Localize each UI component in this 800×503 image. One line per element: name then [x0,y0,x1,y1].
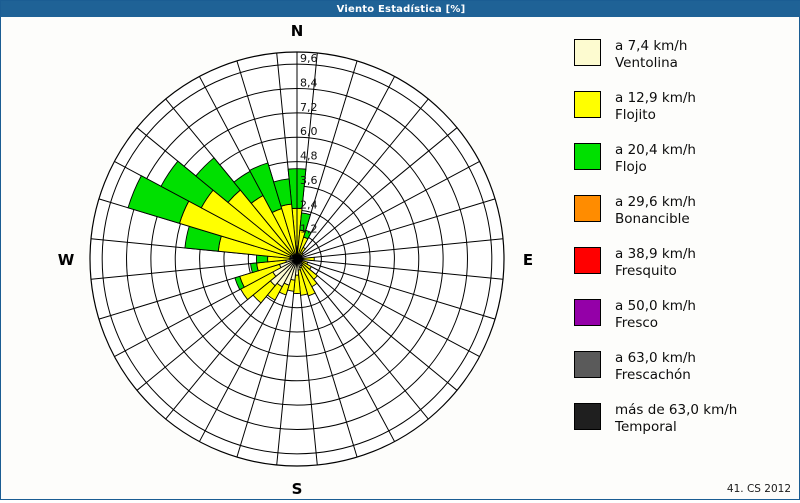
legend: a 7,4 km/hVentolinaa 12,9 km/hFlojitoa 2… [574,38,796,454]
legend-speed: más de 63,0 km/h [615,402,737,419]
legend-speed: a 63,0 km/h [615,350,696,367]
petal-segment [251,263,259,273]
radial-tick-label: 6,0 [300,125,318,138]
legend-swatch-flojo [574,143,601,170]
legend-item[interactable]: a 38,9 km/hFresquito [574,246,796,290]
legend-swatch-fresquito [574,247,601,274]
legend-label: a 12,9 km/hFlojito [615,90,696,124]
compass-label-north: N [291,22,304,40]
legend-label: a 38,9 km/hFresquito [615,246,696,280]
radial-tick-label: 9,6 [300,52,318,65]
wind-rose-plot: 1,22,43,64,86,07,28,49,6NSEW [2,18,568,499]
window-title: Viento Estadística [%] [337,4,466,15]
legend-item[interactable]: a 63,0 km/hFrescachón [574,350,796,394]
compass-label-south: S [292,480,303,498]
compass-label-west: W [58,251,75,269]
compass-label-east: E [523,251,533,269]
legend-swatch-temporal [574,403,601,430]
legend-item[interactable]: a 12,9 km/hFlojito [574,90,796,134]
legend-class: Frescachón [615,367,696,384]
legend-speed: a 50,0 km/h [615,298,696,315]
legend-item[interactable]: a 20,4 km/hFlojo [574,142,796,186]
radial-tick-label: 8,4 [300,77,318,90]
legend-label: a 50,0 km/hFresco [615,298,696,332]
legend-item[interactable]: a 50,0 km/hFresco [574,298,796,342]
legend-class: Flojo [615,159,696,176]
footer-label: 41. CS 2012 [727,483,791,495]
legend-speed: a 7,4 km/h [615,38,687,55]
legend-swatch-fresco [574,299,601,326]
legend-label: a 63,0 km/hFrescachón [615,350,696,384]
legend-label: más de 63,0 km/hTemporal [615,402,737,436]
radial-tick-label: 7,2 [300,101,318,114]
legend-class: Ventolina [615,55,687,72]
window-title-bar: Viento Estadística [%] [1,1,800,17]
window-body: 1,22,43,64,86,07,28,49,6NSEW a 7,4 km/hV… [2,18,799,499]
legend-swatch-frescachón [574,351,601,378]
legend-class: Bonancible [615,211,696,228]
legend-item[interactable]: más de 63,0 km/hTemporal [574,402,796,446]
petal-segment [303,257,314,260]
legend-speed: a 38,9 km/h [615,246,696,263]
wind-rose-window: Viento Estadística [%] 1,22,43,64,86,07,… [0,0,800,500]
legend-label: a 7,4 km/hVentolina [615,38,687,72]
legend-item[interactable]: a 7,4 km/hVentolina [574,38,796,82]
legend-speed: a 20,4 km/h [615,142,696,159]
legend-swatch-flojito [574,91,601,118]
legend-item[interactable]: a 29,6 km/hBonancible [574,194,796,238]
legend-speed: a 12,9 km/h [615,90,696,107]
legend-speed: a 29,6 km/h [615,194,696,211]
legend-swatch-ventolina [574,39,601,66]
legend-class: Fresquito [615,263,696,280]
radial-tick-label: 2,4 [300,198,318,211]
legend-label: a 20,4 km/hFlojo [615,142,696,176]
legend-label: a 29,6 km/hBonancible [615,194,696,228]
legend-class: Fresco [615,315,696,332]
radial-tick-label: 4,8 [300,150,318,163]
legend-swatch-bonancible [574,195,601,222]
legend-class: Temporal [615,419,737,436]
legend-class: Flojito [615,107,696,124]
wind-rose-svg: 1,22,43,64,86,07,28,49,6NSEW [2,18,568,499]
radial-tick-label: 3,6 [300,174,318,187]
radial-tick-label: 1,2 [300,223,318,236]
